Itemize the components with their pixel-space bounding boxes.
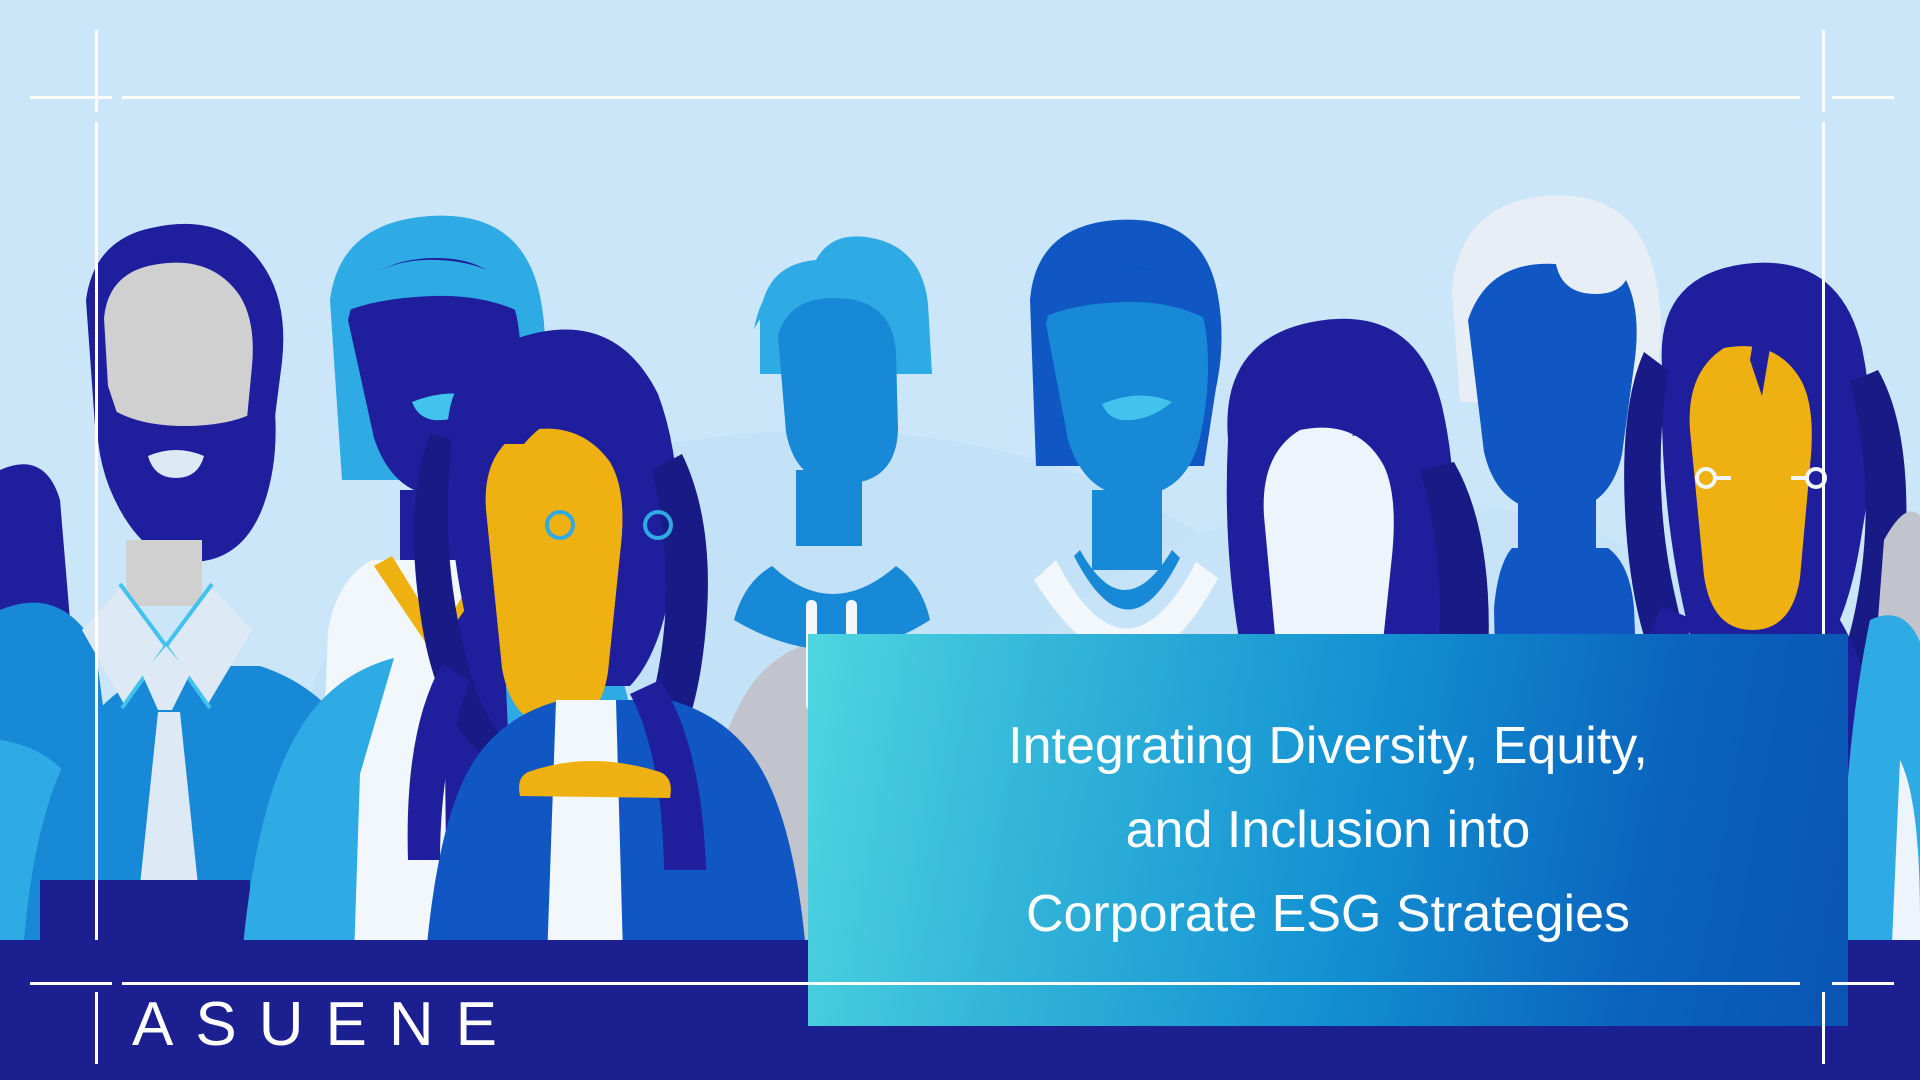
guide-line-bottom-left-horizontal-overlay [30, 982, 112, 985]
guide-line-top-right-horizontal [1832, 96, 1894, 99]
guide-line-top-horizontal [122, 96, 1800, 99]
guide-line-bottom-horizontal-overlay [122, 982, 1800, 985]
asuene-logo: ASUENE [95, 988, 519, 1062]
guide-line-top-right-vertical [1822, 30, 1825, 112]
guide-line-bottom-right-vertical-overlay [1822, 992, 1825, 1064]
slide-canvas: ASUENE Integrating Diversity, Equity, an… [0, 0, 1920, 1080]
guide-line-bottom-right-horizontal-overlay [1832, 982, 1894, 985]
title-panel: Integrating Diversity, Equity, and Inclu… [808, 634, 1848, 1026]
logo-wordmark: ASUENE [126, 994, 519, 1056]
guide-line-top-left-vertical [95, 30, 98, 112]
title-line-3: Corporate ESG Strategies [838, 872, 1818, 956]
title-line-1: Integrating Diversity, Equity, [838, 704, 1818, 788]
title-line-2: and Inclusion into [838, 788, 1818, 872]
guide-line-top-left-horizontal [30, 96, 112, 99]
slide-title: Integrating Diversity, Equity, and Inclu… [808, 704, 1848, 957]
logo-divider-bar [95, 992, 98, 1058]
guide-line-left-vertical-long [95, 122, 98, 982]
